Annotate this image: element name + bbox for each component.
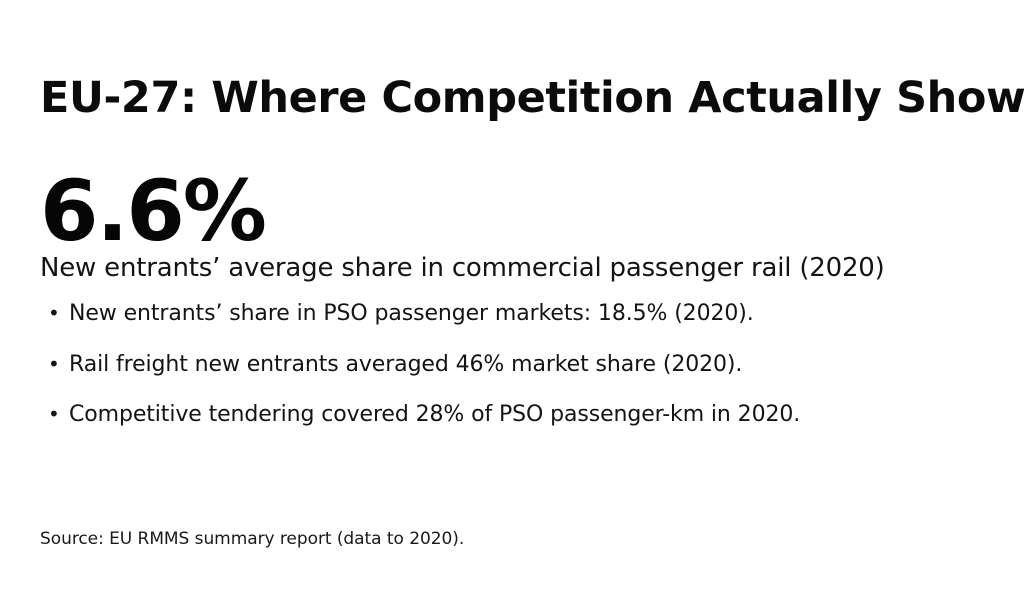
- bullet-list: • New entrants’ share in PSO passenger m…: [44, 300, 984, 429]
- list-item: • Rail freight new entrants averaged 46%…: [44, 351, 984, 379]
- list-item: • New entrants’ share in PSO passenger m…: [44, 300, 984, 328]
- list-item: • Competitive tendering covered 28% of P…: [44, 401, 984, 429]
- list-item-label: Rail freight new entrants averaged 46% m…: [69, 352, 742, 377]
- stat-caption: New entrants’ average share in commercia…: [40, 253, 980, 284]
- page-title: EU-27: Where Competition Actually Shows …: [40, 76, 1000, 121]
- list-item-label: Competitive tendering covered 28% of PSO…: [69, 402, 800, 427]
- source-note: Source: EU RMMS summary report (data to …: [40, 528, 464, 550]
- stat-value: 6.6%: [40, 175, 980, 247]
- bullet-point-icon: •: [48, 351, 62, 378]
- bullet-point-icon: •: [48, 401, 62, 428]
- bullet-point-icon: •: [48, 300, 62, 327]
- list-item-label: New entrants’ share in PSO passenger mar…: [69, 301, 754, 326]
- slide-canvas: EU-27: Where Competition Actually Shows …: [0, 0, 1024, 595]
- key-statistic-block: 6.6% New entrants’ average share in comm…: [40, 175, 980, 284]
